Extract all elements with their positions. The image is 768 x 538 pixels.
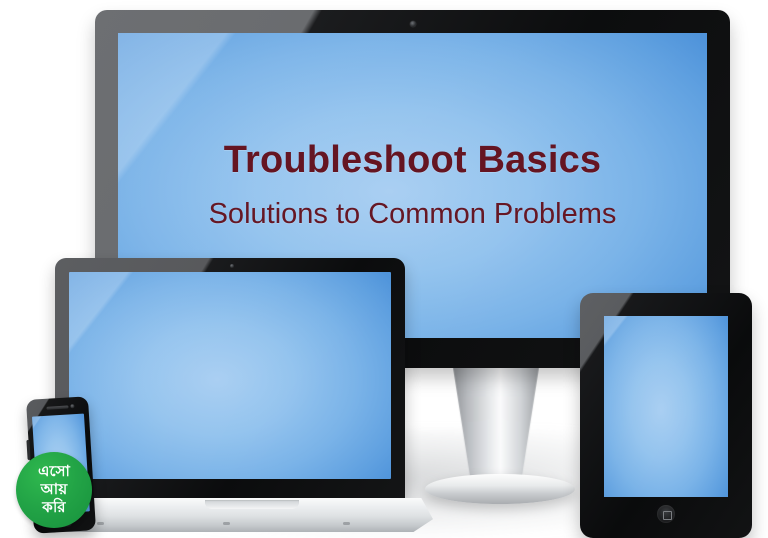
brand-logo-line-2: আয় [41, 481, 68, 499]
screenshot-canvas: Troubleshoot Basics Solutions to Common … [0, 0, 768, 538]
brand-logo-line-3: করি [42, 499, 65, 517]
webcam-icon [410, 21, 416, 27]
home-button-icon[interactable] [657, 505, 675, 523]
earpiece-speaker-icon [46, 405, 68, 409]
laptop-foot [97, 522, 104, 525]
front-camera-icon [70, 404, 74, 408]
webcam-icon [230, 264, 234, 268]
laptop-screen[interactable] [69, 272, 391, 479]
brand-logo-line-1: এসো [38, 463, 70, 481]
laptop-lid [55, 258, 405, 503]
monitor-stand-base [425, 474, 575, 504]
laptop-lid-notch [205, 500, 299, 509]
tablet-device[interactable] [580, 293, 752, 538]
volume-button[interactable] [26, 440, 30, 460]
laptop-foot [343, 522, 350, 525]
tablet-screen[interactable] [604, 316, 728, 497]
monitor-stand-neck [452, 362, 541, 484]
brand-logo-badge[interactable]: এসো আয় করি [16, 452, 92, 528]
laptop-foot [223, 522, 230, 525]
laptop-device[interactable] [55, 258, 425, 538]
